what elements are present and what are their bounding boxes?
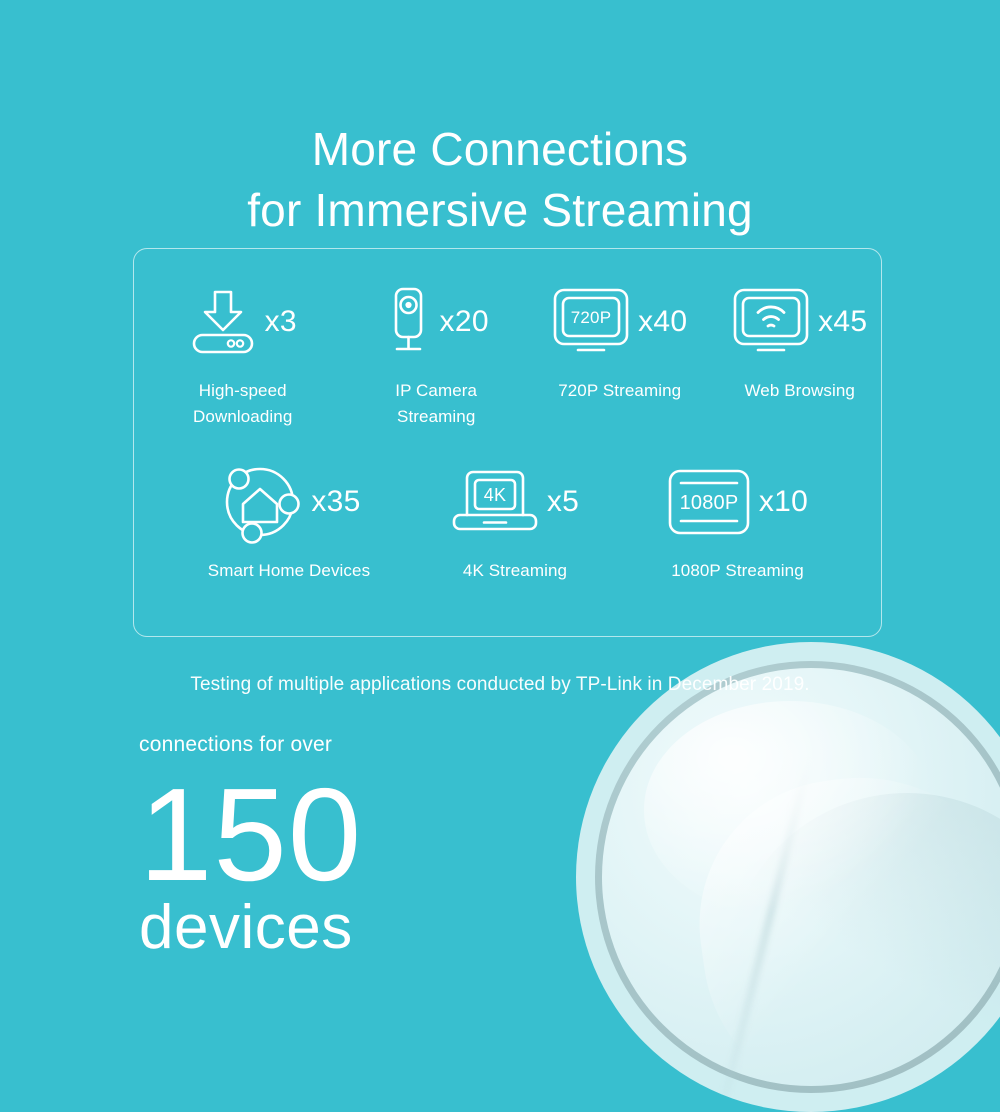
- stat-720p-streaming: 720P x40 720P Streaming: [521, 279, 718, 429]
- devices-highlight: connections for over 150 devices: [139, 734, 362, 959]
- stat-top: 720P x40: [521, 279, 718, 365]
- devices-kicker: connections for over: [139, 734, 362, 755]
- stat-label: 720P Streaming: [521, 378, 718, 404]
- stat-label: IP Camera Streaming: [351, 378, 521, 429]
- stat-top: x3: [134, 279, 351, 365]
- stat-multiplier: x5: [547, 487, 579, 517]
- laptop-screen-text: 4K: [484, 485, 507, 505]
- stat-top: x20: [351, 279, 521, 365]
- stat-ip-camera-streaming: x20 IP Camera Streaming: [351, 279, 521, 429]
- tablet-screen-text: 1080P: [679, 492, 738, 514]
- stat-multiplier: x40: [638, 307, 687, 337]
- devices-word: devices: [139, 897, 362, 959]
- monitor-720p-icon: 720P: [552, 287, 630, 357]
- download-icon: [189, 287, 257, 357]
- stat-label: Web Browsing: [718, 378, 881, 404]
- stat-high-speed-downloading: x3 High-speed Downloading: [134, 279, 351, 429]
- stat-multiplier: x3: [265, 307, 297, 337]
- page-title-line-1: More Connections: [0, 119, 1000, 180]
- laptop-4k-icon: 4K: [451, 469, 539, 535]
- stat-label: 1080P Streaming: [610, 558, 865, 584]
- stat-4k-streaming: 4K x5 4K Streaming: [420, 459, 610, 584]
- stat-multiplier: x35: [311, 487, 360, 517]
- stat-1080p-streaming: 1080P x10 1080P Streaming: [610, 459, 865, 584]
- stat-top: 1080P x10: [610, 459, 865, 545]
- stat-web-browsing: x45 Web Browsing: [718, 279, 881, 429]
- devices-number: 150: [139, 769, 362, 901]
- stat-multiplier: x20: [440, 307, 489, 337]
- stats-row-1: x3 High-speed Downloading x20 IP Camer: [134, 279, 881, 429]
- footnote-text: Testing of multiple applications conduct…: [0, 674, 1000, 696]
- product-image-deco-router: [576, 642, 1000, 1112]
- stat-multiplier: x10: [759, 487, 808, 517]
- stat-label: High-speed Downloading: [134, 378, 351, 429]
- page-title-line-2: for Immersive Streaming: [0, 180, 1000, 241]
- stat-label: Smart Home Devices: [158, 558, 420, 584]
- page-title: More Connections for Immersive Streaming: [0, 119, 1000, 241]
- stat-top: 4K x5: [420, 459, 610, 545]
- stat-multiplier: x45: [818, 307, 867, 337]
- stats-row-2: x35 Smart Home Devices 4K x5 4K Streami: [134, 459, 881, 584]
- stat-top: x45: [718, 279, 881, 365]
- stat-label: 4K Streaming: [420, 558, 610, 584]
- stats-card: x3 High-speed Downloading x20 IP Camer: [133, 248, 882, 637]
- stat-smart-home-devices: x35 Smart Home Devices: [158, 459, 420, 584]
- monitor-wifi-icon: [732, 287, 810, 357]
- monitor-screen-text: 720P: [571, 308, 612, 327]
- product-face: [602, 668, 1000, 1086]
- ip-camera-icon: [384, 286, 432, 358]
- smart-home-icon: [217, 460, 303, 544]
- product-sheen: [644, 701, 937, 918]
- tablet-1080p-icon: 1080P: [667, 468, 751, 536]
- stat-top: x35: [158, 459, 420, 545]
